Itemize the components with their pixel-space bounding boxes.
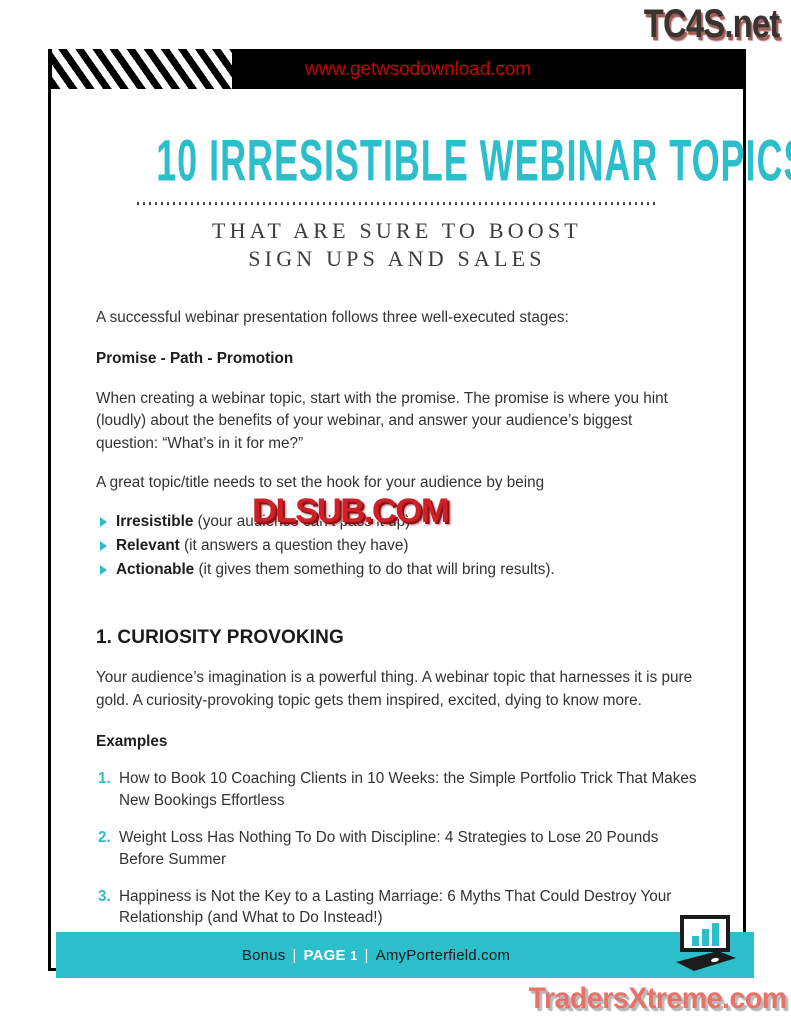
tradersxtreme-watermark: TradersXtreme.com <box>529 982 787 1016</box>
bullet-rest: (it gives them something to do that will… <box>194 561 554 578</box>
laptop-bar-chart-icon <box>668 914 738 976</box>
dlsub-watermark: DLSUB.COM <box>252 492 448 531</box>
intro-paragraph: A successful webinar presentation follow… <box>96 307 698 329</box>
list-item-number: 3. <box>98 886 111 908</box>
bullet-lead: Irresistible <box>116 513 193 530</box>
bullet-rest: (it answers a question they have) <box>180 537 409 554</box>
list-item-text: How to Book 10 Coaching Clients in 10 We… <box>119 770 697 809</box>
list-item: Relevant (it answers a question they hav… <box>100 535 698 557</box>
section-body-paragraph: Your audience’s imagination is a powerfu… <box>96 667 698 712</box>
footer-text: Bonus|PAGE 1|AmyPorterfield.com <box>56 932 696 978</box>
examples-list: 1.How to Book 10 Coaching Clients in 10 … <box>96 768 698 929</box>
list-item-text: Weight Loss Has Nothing To Do with Disci… <box>119 829 658 868</box>
title-dotted-divider <box>137 202 657 205</box>
document-footer-bar: Bonus|PAGE 1|AmyPorterfield.com <box>56 932 754 978</box>
hook-paragraph: A great topic/title needs to set the hoo… <box>96 472 698 494</box>
page-subtitle-line-1: THAT ARE SURE TO BOOST <box>96 217 698 245</box>
list-item: Actionable (it gives them something to d… <box>100 559 698 581</box>
section-heading: 1. CURIOSITY PROVOKING <box>96 627 698 649</box>
footer-separator-1: | <box>292 947 296 964</box>
list-item: 1.How to Book 10 Coaching Clients in 10 … <box>98 768 698 812</box>
page-title: 10 IRRESISTIBLE WEBINAR TOPICS <box>156 131 638 190</box>
triangle-bullet-icon <box>100 565 107 575</box>
list-item: 3.Happiness is Not the Key to a Lasting … <box>98 886 698 930</box>
footer-site: AmyPorterfield.com <box>376 947 510 964</box>
tc4s-watermark: TC4S.net <box>643 2 779 47</box>
list-item-number: 2. <box>98 827 111 849</box>
footer-bonus-label: Bonus <box>242 947 286 964</box>
footer-page-number: 1 <box>350 948 357 963</box>
triangle-bullet-icon <box>100 517 107 527</box>
list-item: 2.Weight Loss Has Nothing To Do with Dis… <box>98 827 698 871</box>
header-url-watermark: www.getwsodownload.com <box>48 49 746 89</box>
stages-heading: Promise - Path - Promotion <box>96 348 698 370</box>
promise-paragraph: When creating a webinar topic, start wit… <box>96 388 698 455</box>
triangle-bullet-icon <box>100 541 107 551</box>
page-subtitle: THAT ARE SURE TO BOOST SIGN UPS AND SALE… <box>96 217 698 273</box>
examples-label: Examples <box>96 733 698 751</box>
footer-separator-2: | <box>365 947 369 964</box>
list-item-text: Happiness is Not the Key to a Lasting Ma… <box>119 888 671 927</box>
bullet-lead: Actionable <box>116 561 194 578</box>
page-subtitle-line-2: SIGN UPS AND SALES <box>96 245 698 273</box>
footer-page-label: PAGE 1 <box>304 947 358 964</box>
document-header-bar: www.getwsodownload.com <box>48 49 746 89</box>
bullet-lead: Relevant <box>116 537 180 554</box>
list-item-number: 1. <box>98 768 111 790</box>
